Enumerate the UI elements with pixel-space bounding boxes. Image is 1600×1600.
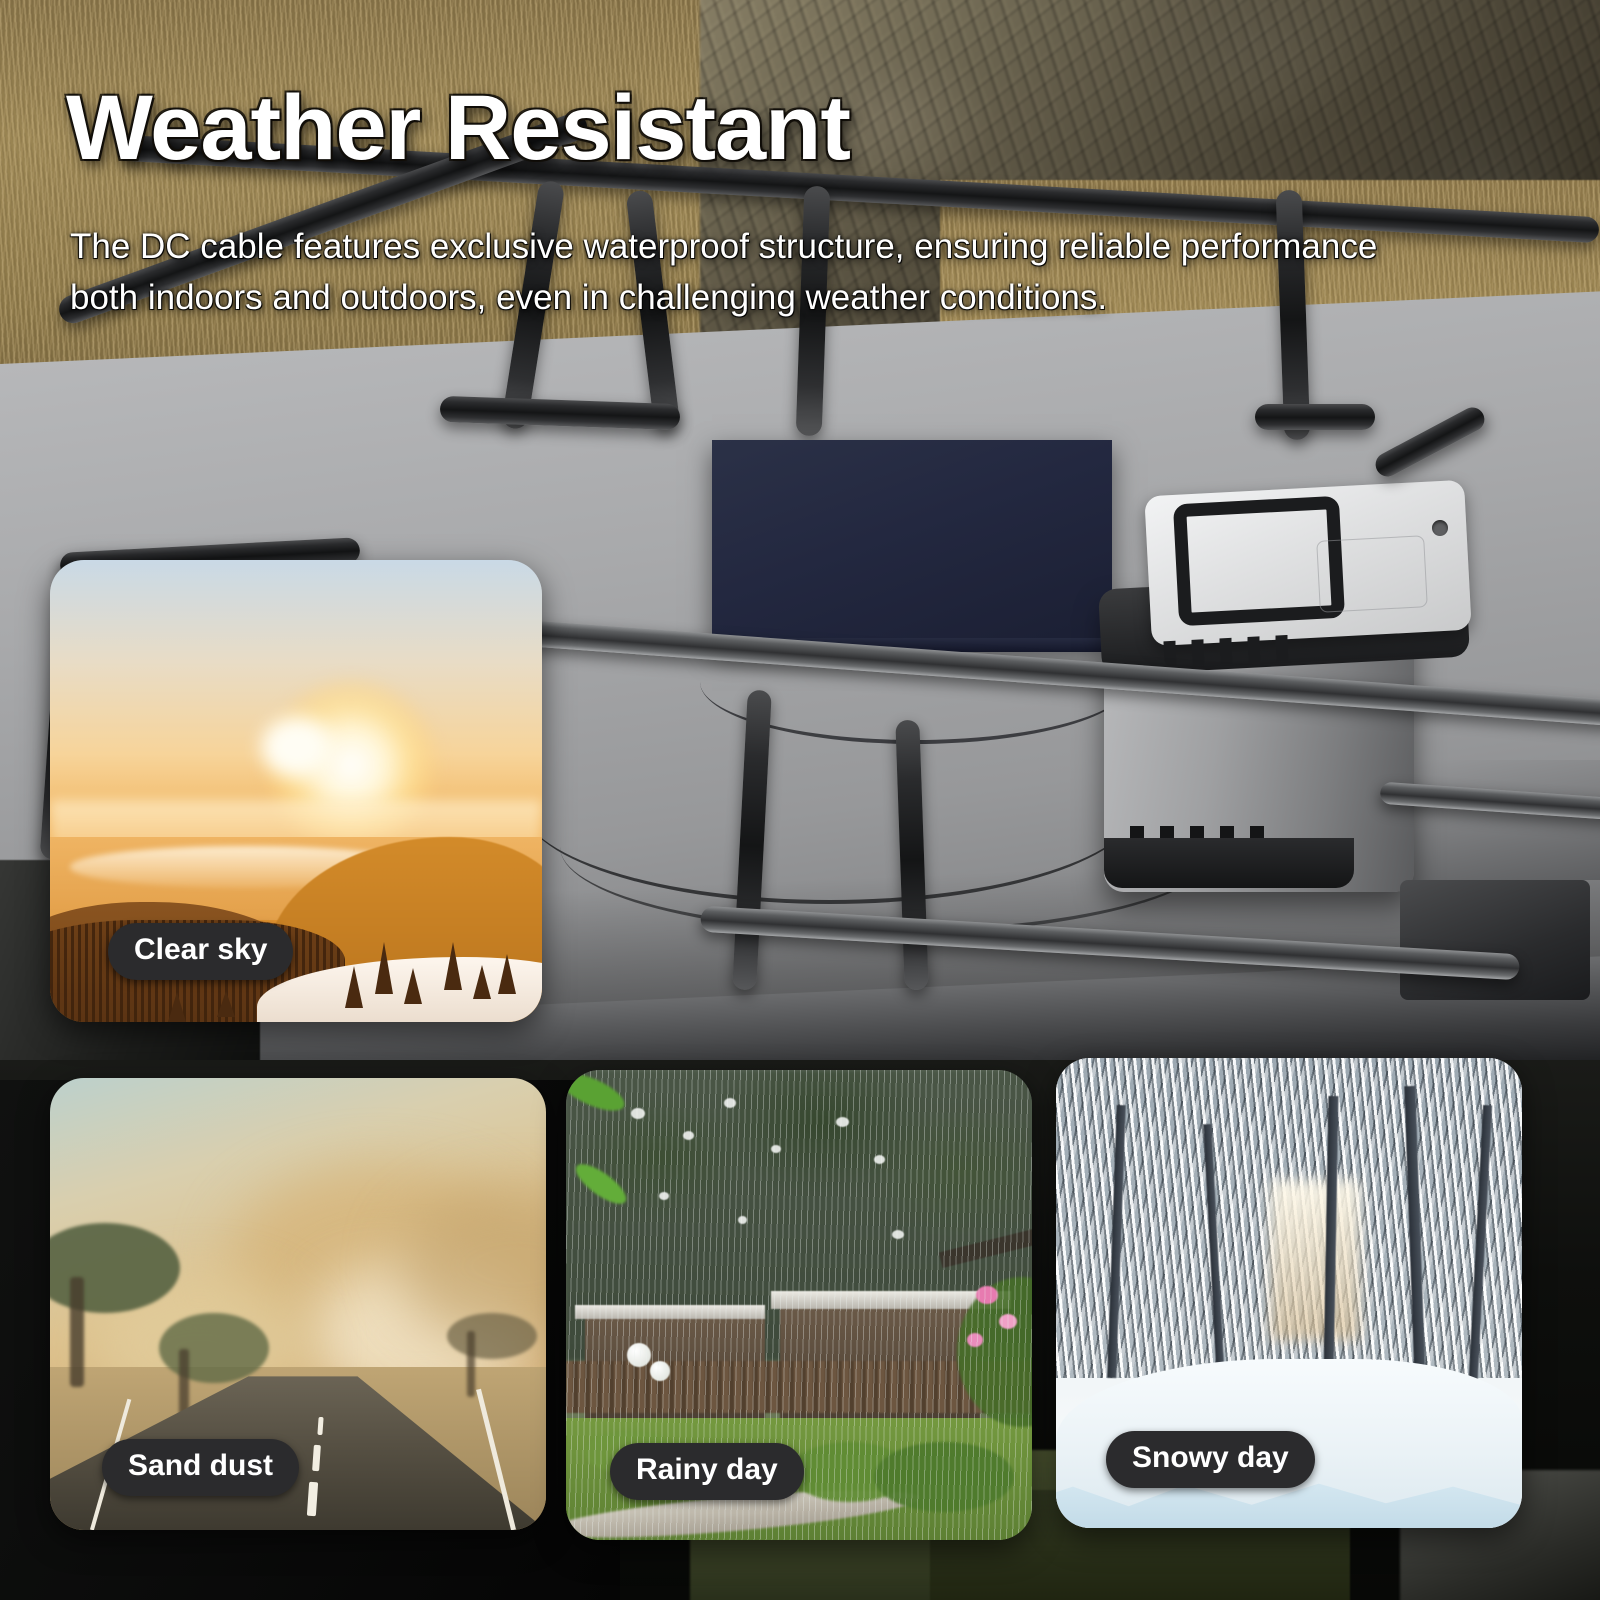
pine-tree-6: [498, 954, 516, 994]
pine-tree-4: [444, 942, 462, 990]
raindrop-1: [631, 1108, 645, 1119]
roadside-tree-3-trunk: [467, 1331, 475, 1397]
raindrop-9: [892, 1230, 904, 1239]
pine-tree-1: [345, 966, 363, 1008]
raindrop-2: [683, 1131, 694, 1140]
forest-light-gap: [1270, 1180, 1360, 1340]
road-dash-3: [317, 1417, 323, 1435]
tile-label-clear-sky: Clear sky: [108, 923, 293, 980]
weather-tile-rainy-day[interactable]: Rainy day: [566, 1070, 1032, 1540]
power-station-foot: [1104, 838, 1354, 888]
tile-label-snowy-day: Snowy day: [1106, 1431, 1315, 1488]
page-subtitle: The DC cable features exclusive waterpro…: [70, 222, 1430, 324]
pine-tree-7: [168, 992, 186, 1022]
weather-tile-clear-sky[interactable]: Clear sky: [50, 560, 542, 1022]
tile-label-rainy-day: Rainy day: [610, 1443, 804, 1500]
sun-core: [261, 717, 331, 777]
roadside-tree-3: [447, 1313, 537, 1359]
accessory-case: [1400, 880, 1590, 1000]
pine-tree-5: [473, 965, 491, 999]
weather-tile-snowy-day[interactable]: Snowy day: [1056, 1058, 1522, 1528]
solar-panel: [712, 440, 1112, 645]
roadside-tree-1-trunk: [70, 1277, 84, 1387]
tile-label-sand-dust: Sand dust: [102, 1439, 299, 1496]
raindrop-6: [874, 1155, 885, 1164]
roof-rack-foot-4: [1255, 404, 1375, 430]
roadside-tree-2: [159, 1313, 269, 1383]
power-station-plate: [1316, 535, 1428, 613]
pine-tree-3: [404, 968, 422, 1004]
pine-tree-8: [217, 991, 235, 1017]
pine-tree-2: [375, 942, 393, 994]
page-title: Weather Resistant: [66, 82, 850, 174]
product-feature-image: Weather Resistant The DC cable features …: [0, 0, 1600, 1600]
weather-tile-sand-dust[interactable]: Sand dust: [50, 1078, 546, 1530]
